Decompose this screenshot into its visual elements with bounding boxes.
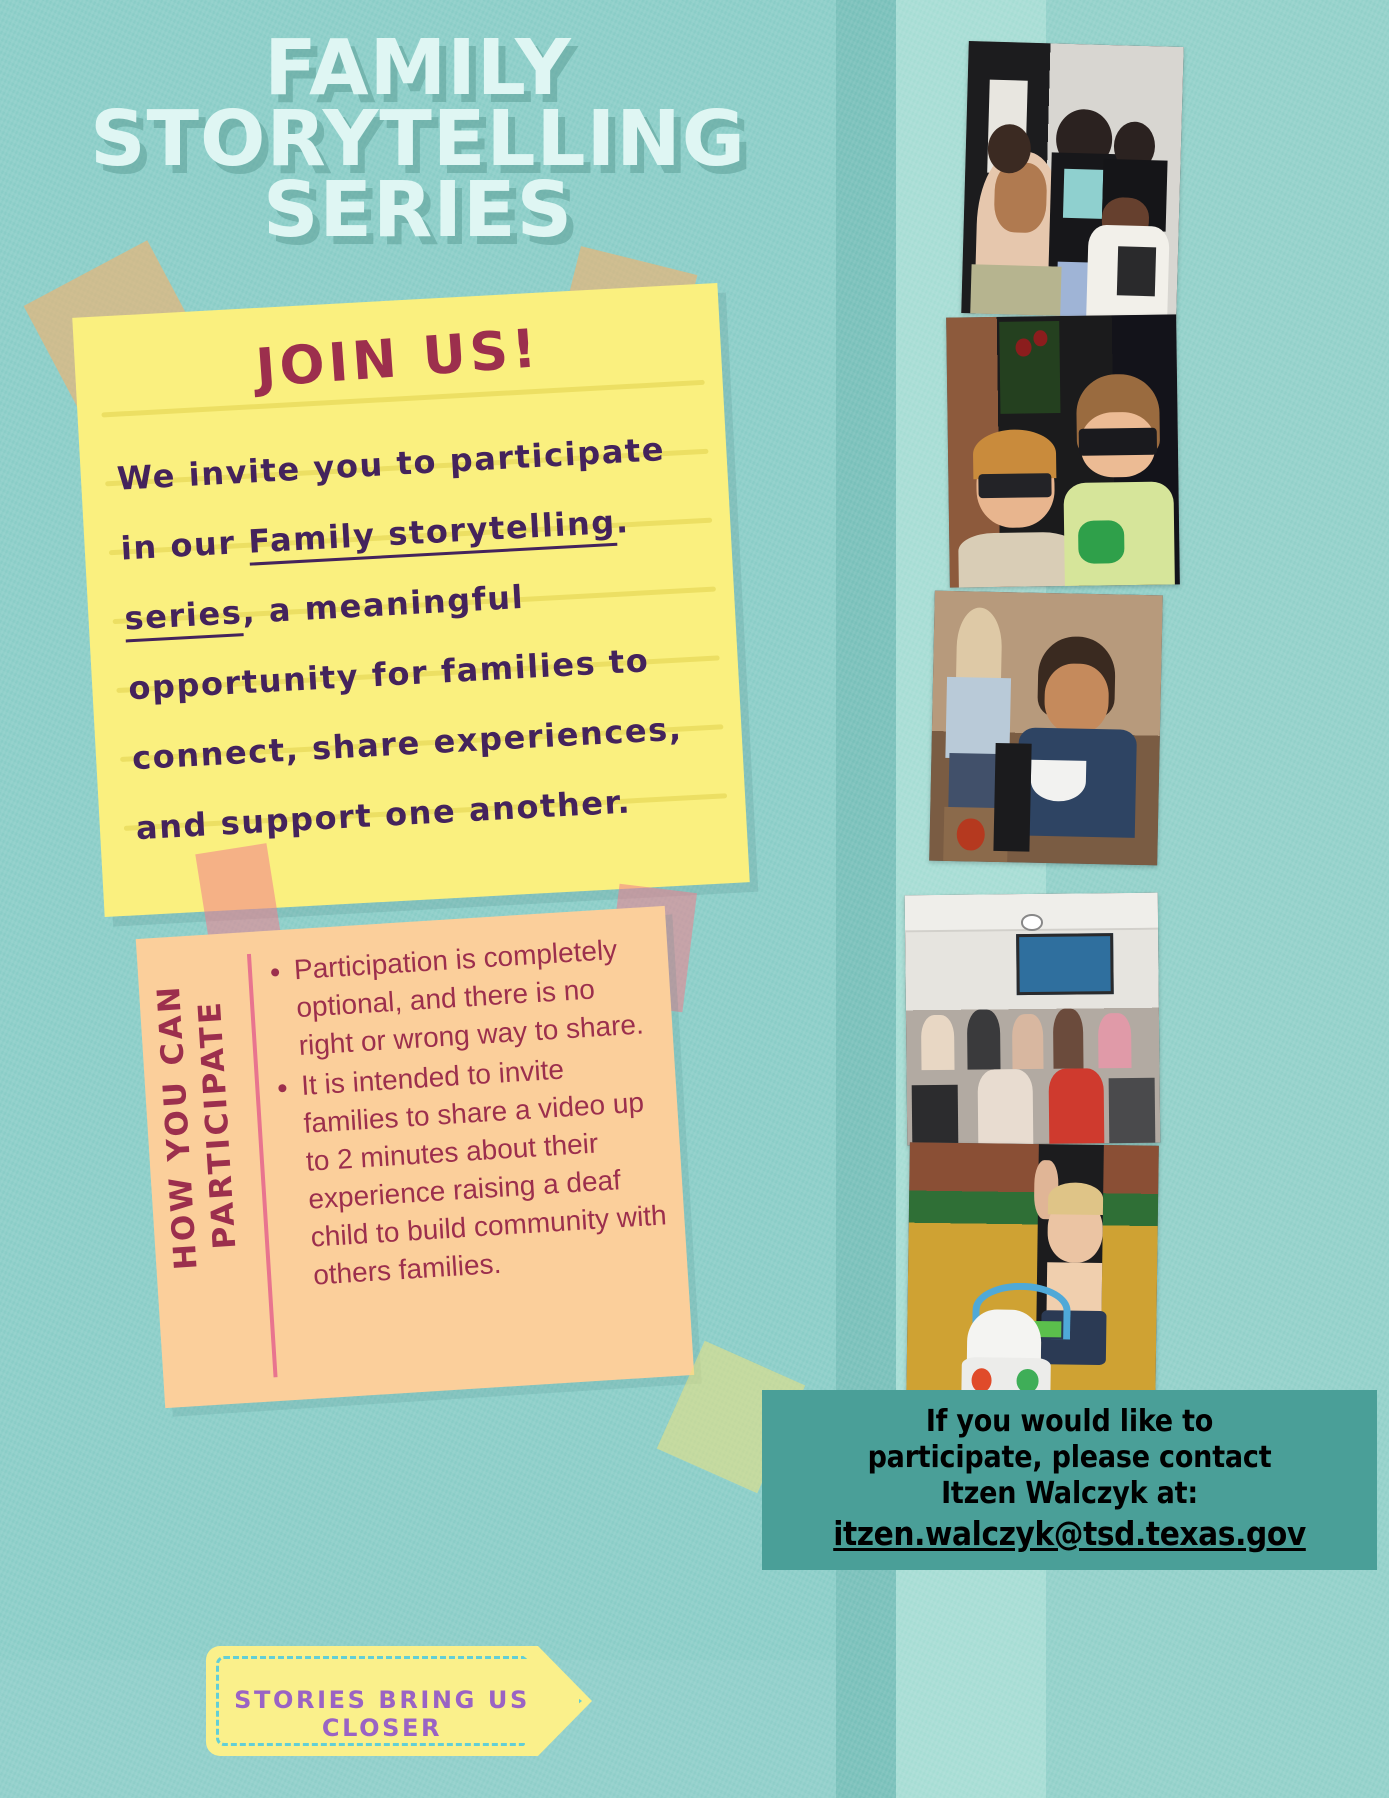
banner-text: STORIES BRING US CLOSER — [206, 1686, 558, 1742]
participation-heading: HOW YOU CAN PARTICIPATE — [147, 953, 248, 1297]
contact-message: If you would like to participate, please… — [772, 1404, 1367, 1512]
note-body: We invite you to participate in our Fami… — [115, 412, 727, 863]
note-emphasis-b: series — [124, 593, 244, 642]
photo-two-boys: two boys smiling, one holding a green wr… — [946, 314, 1180, 587]
note-heading: JOIN US! — [74, 305, 723, 412]
photo-classroom-circle: adults and children seated in a circle i… — [905, 893, 1161, 1146]
page-title: FAMILY STORYTELLING SERIES — [0, 34, 836, 246]
contact-email-link[interactable]: itzen.walczyk@tsd.texas.gov — [768, 1514, 1371, 1553]
contact-box: If you would like to participate, please… — [762, 1390, 1377, 1570]
photo-boy-with-bowl: boy in wheelchair holding a bowl, anothe… — [929, 591, 1163, 866]
photo-toddler-walker: adult helping a toddler walk with a push… — [906, 1142, 1159, 1413]
poster-canvas: FAMILY STORYTELLING SERIES JOIN US! We i… — [0, 0, 1389, 1798]
participation-card: HOW YOU CAN PARTICIPATE Participation is… — [136, 906, 694, 1408]
list-item: Participation is completely optional, an… — [293, 929, 659, 1065]
participation-bullet-list: Participation is completely optional, an… — [267, 929, 674, 1299]
invitation-note-card: JOIN US! We invite you to participate in… — [72, 283, 750, 917]
list-item: It is intended to invite families to sha… — [300, 1044, 674, 1294]
photo-group-students: group of students and staff posing toget… — [961, 41, 1184, 319]
tagline-banner: STORIES BRING US CLOSER — [206, 1646, 592, 1756]
note-emphasis-a: Family storytelling — [247, 503, 617, 566]
